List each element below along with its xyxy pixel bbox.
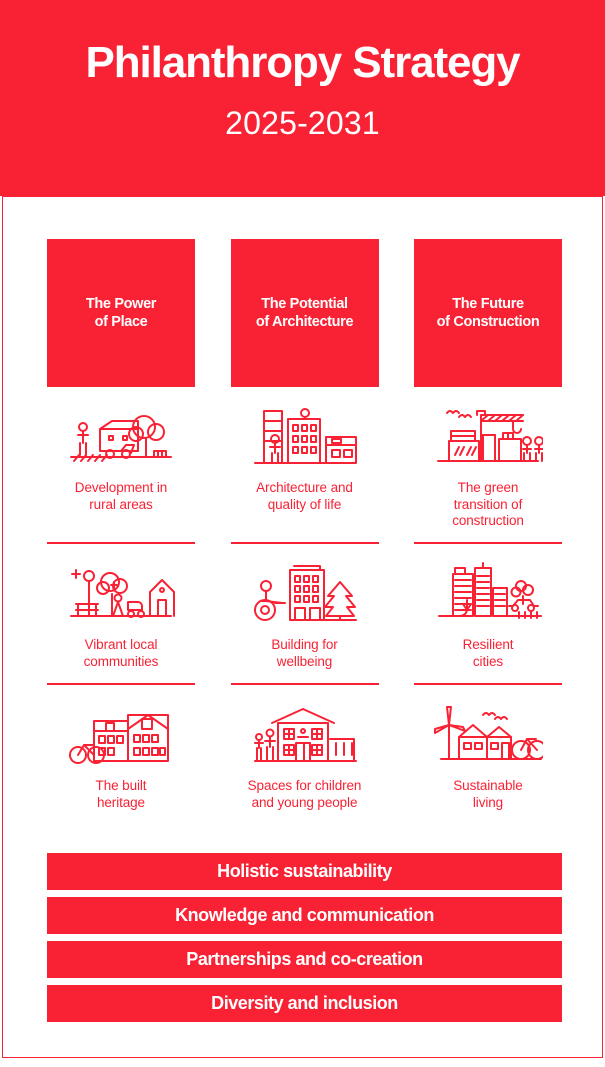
theme-bar-holistic-sustainability[interactable]: Holistic sustainability [47,853,562,890]
cross-cutting-themes: Holistic sustainability Knowledge and co… [47,853,562,1022]
theme-label: Diversity and inclusion [211,993,398,1014]
architecture-quality-icon [250,399,360,471]
pillar-column-future-of-construction: The Future of Construction [414,239,562,812]
pillar-cell-label: The built heritage [96,778,147,812]
page-title: Philanthropy Strategy [85,40,519,86]
spaces-children-icon [250,697,360,769]
pillar-header-power-of-place[interactable]: The Power of Place [47,239,195,387]
building-wellbeing-icon [250,556,360,628]
content-card: The Power of Place [2,196,603,1058]
theme-label: Holistic sustainability [217,861,392,882]
pillar-cell-label: Sustainable living [453,778,522,812]
pillar-cell[interactable]: The built heritage [47,685,195,812]
pillar-cell[interactable]: Sustainable living [414,685,562,812]
pillar-title: The Future of Construction [437,295,540,331]
pillar-cell[interactable]: Architecture and quality of life [231,387,379,544]
pillar-cell[interactable]: Development in rural areas [47,387,195,544]
pillar-cell-label: Building for wellbeing [271,637,337,671]
theme-bar-knowledge-communication[interactable]: Knowledge and communication [47,897,562,934]
theme-bar-diversity-inclusion[interactable]: Diversity and inclusion [47,985,562,1022]
pillar-cell-label: Resilient cities [463,637,514,671]
poster-header: Philanthropy Strategy 2025-2031 [0,0,605,196]
green-construction-icon [433,399,543,471]
pillar-cell-label: Architecture and quality of life [256,480,353,530]
theme-label: Knowledge and communication [175,905,434,926]
built-heritage-icon [66,697,176,769]
pillar-cell[interactable]: Spaces for children and young people [231,685,379,812]
pillar-title: The Potential of Architecture [256,295,353,331]
theme-bar-partnerships-cocreation[interactable]: Partnerships and co-creation [47,941,562,978]
pillar-cell-label: The green transition of construction [452,480,524,530]
pillar-cell[interactable]: The green transition of construction [414,387,562,544]
pillar-cell-label: Development in rural areas [75,480,167,530]
rural-development-icon [66,399,176,471]
pillar-column-potential-of-architecture: The Potential of Architecture [231,239,379,812]
resilient-cities-icon [433,556,543,628]
pillar-cell[interactable]: Vibrant local communities [47,544,195,685]
theme-label: Partnerships and co-creation [186,949,422,970]
pillar-grid: The Power of Place [47,239,562,812]
pillar-header-future-of-construction[interactable]: The Future of Construction [414,239,562,387]
philanthropy-strategy-poster: Philanthropy Strategy 2025-2031 The Powe… [0,0,605,1067]
pillar-title: The Power of Place [86,295,156,331]
pillar-cell-label: Spaces for children and young people [248,778,362,812]
vibrant-communities-icon [66,556,176,628]
page-subtitle: 2025-2031 [225,106,380,141]
pillar-cell-label: Vibrant local communities [84,637,159,671]
sustainable-living-icon [433,697,543,769]
pillar-cell[interactable]: Building for wellbeing [231,544,379,685]
pillar-column-power-of-place: The Power of Place [47,239,195,812]
pillar-cell[interactable]: Resilient cities [414,544,562,685]
pillar-header-potential-of-architecture[interactable]: The Potential of Architecture [231,239,379,387]
